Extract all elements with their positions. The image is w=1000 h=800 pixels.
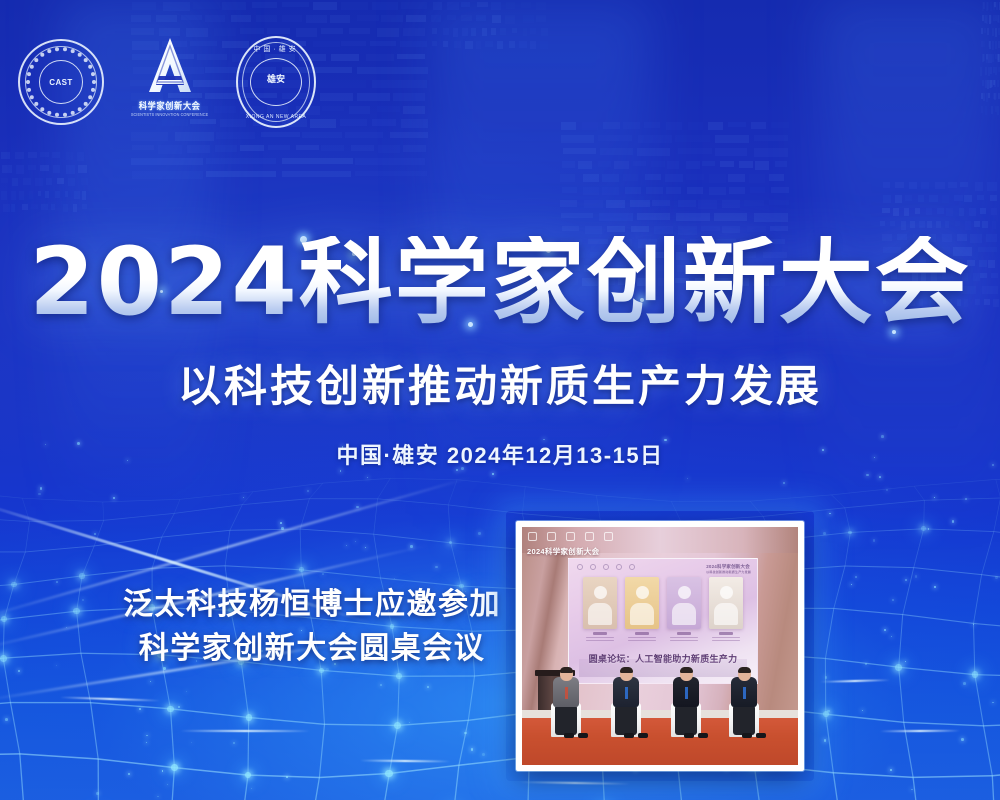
skyline-bar xyxy=(45,191,49,198)
skyline-bar xyxy=(321,28,343,34)
mesh-node xyxy=(171,764,178,771)
skyline-bar xyxy=(400,41,426,47)
skyline-bar xyxy=(351,145,374,151)
skyline-bar xyxy=(23,178,31,185)
seal-arc-dot xyxy=(34,58,38,62)
skyline-bar xyxy=(665,174,683,182)
seal-arc-dot xyxy=(63,113,67,117)
skyline-bar xyxy=(709,187,726,195)
panelist-shoe xyxy=(684,733,694,738)
skyline-bar xyxy=(320,93,353,101)
screen-icon-1 xyxy=(577,564,583,570)
seal-arc-dot xyxy=(88,65,92,69)
mesh-dust xyxy=(162,770,164,772)
mesh-dust xyxy=(482,753,485,756)
triangle-logo-wordmark: 科学家创新大会 xyxy=(139,99,201,112)
panelist-card-row xyxy=(579,577,747,629)
panelist-card xyxy=(709,577,743,629)
skyline-bar xyxy=(313,2,338,10)
skyline-bar xyxy=(349,28,371,34)
skyline-bar xyxy=(372,80,427,88)
skyline-bar xyxy=(40,165,48,171)
banner-icon-1 xyxy=(528,532,537,541)
mesh-dust xyxy=(965,498,967,500)
panelist-name xyxy=(583,632,617,643)
mesh-dust xyxy=(866,474,869,477)
mesh-node xyxy=(246,714,252,720)
skyline-bar xyxy=(296,145,319,150)
mesh-dust xyxy=(280,522,282,524)
mesh-node xyxy=(11,582,17,588)
event-meta-line: 中国·雄安 2024年12月13-15日 xyxy=(0,438,1000,470)
panelist-hair xyxy=(738,667,751,673)
screen-logo-sub: 以科技创新推动新质生产力发展 xyxy=(706,570,751,574)
panelist-head xyxy=(636,586,649,599)
skyline-bar xyxy=(754,213,788,222)
skyline-bar xyxy=(390,132,428,138)
mesh-dust xyxy=(18,670,20,672)
panelist-name xyxy=(625,632,659,643)
skyline-bar xyxy=(678,148,712,154)
skyline-bar xyxy=(256,15,277,22)
panelist-card xyxy=(625,577,659,629)
skyline-bar xyxy=(222,2,246,10)
skyline-bar xyxy=(366,54,394,61)
panelist-body xyxy=(672,603,696,625)
skyline-bar xyxy=(377,106,400,112)
mesh-dust xyxy=(146,735,147,736)
skyline-bar xyxy=(720,161,734,167)
panelist-name-row xyxy=(579,632,747,643)
seal-arc-dot xyxy=(88,95,92,99)
oval-bottom-text: XIONG AN NEW AREA xyxy=(236,114,316,120)
banner-icon-5 xyxy=(604,532,613,541)
panelist-legs xyxy=(555,705,577,735)
panelist-head xyxy=(720,586,733,599)
skyline-bar xyxy=(372,119,396,126)
skyline-bar xyxy=(313,41,340,47)
panelist-hair xyxy=(680,667,693,673)
skyline-bar xyxy=(401,2,426,9)
skyline-bar xyxy=(19,191,24,200)
skyline-bar xyxy=(41,204,47,210)
skyline-bar xyxy=(1,178,8,183)
skyline-bar xyxy=(11,204,16,212)
caption-block: 泛太科技杨恒博士应邀参加 科学家创新大会圆桌会议 xyxy=(112,583,512,670)
skyline-bar xyxy=(687,187,703,194)
mesh-node xyxy=(0,655,7,662)
triangle-logo-subtext: SCIENTISTS INNOVATION CONFERENCE xyxy=(131,112,208,117)
panelist-body xyxy=(630,603,654,625)
seal-arc-dot xyxy=(27,88,31,92)
skyline-bar xyxy=(403,145,426,152)
seal-arc-dot xyxy=(47,49,51,53)
mesh-dust xyxy=(934,586,935,587)
skyline-bar xyxy=(715,148,748,156)
skyline-bar xyxy=(403,106,425,114)
skyline-bar xyxy=(282,158,353,164)
skyline-bar xyxy=(31,204,38,209)
roundtable-panel-photo: 2024科学家创新大会 2024科学家创新大会 以科技创新推动新质生产力发展 xyxy=(516,521,804,771)
skyline-bar xyxy=(355,171,427,176)
skyline-bar xyxy=(744,200,764,206)
screen-footer-band xyxy=(579,659,747,677)
mesh-dust xyxy=(879,476,881,478)
skyline-bar xyxy=(302,132,342,138)
skyline-bar xyxy=(357,15,378,21)
projection-screen: 2024科学家创新大会 以科技创新推动新质生产力发展 xyxy=(568,558,758,684)
skyline-bar xyxy=(769,200,789,205)
screen-icon-5 xyxy=(629,564,635,570)
mesh-dust xyxy=(478,532,480,534)
skyline-bar xyxy=(714,213,747,221)
skyline-bar xyxy=(675,135,710,142)
skyline-bar xyxy=(16,165,24,174)
skyline-bar xyxy=(377,28,400,37)
panelist-badge xyxy=(625,687,628,699)
skyline-bar xyxy=(775,161,787,167)
skyline-bar xyxy=(676,213,710,221)
cast-seal-logo: CAST xyxy=(18,39,104,125)
panelist-shoe xyxy=(564,733,574,738)
cast-monogram: CAST xyxy=(49,78,72,87)
skyline-bar xyxy=(282,15,302,22)
seal-arc-dot xyxy=(91,72,95,76)
seal-arc-dot xyxy=(91,88,95,92)
mesh-dust xyxy=(823,532,826,535)
skyline-bar xyxy=(311,80,365,88)
skyline-bar xyxy=(3,204,10,212)
skyline-bar xyxy=(357,67,429,74)
panelist-shoe xyxy=(742,733,752,738)
panelist-shoe xyxy=(624,733,634,738)
skyline-bar xyxy=(240,28,264,34)
skyline-bar xyxy=(381,15,403,22)
seal-center-emblem: CAST xyxy=(39,60,83,104)
skyline-bar xyxy=(252,2,278,8)
skyline-bar xyxy=(749,174,765,183)
seal-arc-dot xyxy=(92,80,96,84)
seal-arc-dot xyxy=(71,111,75,115)
mesh-dust xyxy=(186,691,187,692)
skyline-bar xyxy=(715,135,749,143)
panelist-hair xyxy=(560,667,573,673)
mesh-node xyxy=(972,671,978,677)
skyline-bar xyxy=(754,148,788,157)
seal-arc-dot xyxy=(47,111,51,115)
seal-arc-dot xyxy=(30,95,34,99)
skyline-bar xyxy=(397,54,426,59)
seal-arc-dot xyxy=(27,72,31,76)
skyline-bar xyxy=(355,158,425,165)
skyline-bar xyxy=(349,106,370,114)
mesh-dust xyxy=(851,584,852,585)
page-title: 2024科学家创新大会 xyxy=(0,236,1000,330)
mesh-dust xyxy=(340,470,341,471)
skyline-bar xyxy=(321,145,344,151)
skyline-bar xyxy=(372,2,398,10)
mesh-dust xyxy=(961,738,964,741)
skyline-bar xyxy=(29,191,33,199)
seal-arc-dot xyxy=(30,65,34,69)
panelist-head xyxy=(594,586,607,599)
mesh-node xyxy=(79,573,84,578)
seal-arc-dot xyxy=(78,53,82,57)
skyline-bar xyxy=(206,158,277,164)
conference-poster: CAST 科学家创新大会 SCI xyxy=(0,0,1000,800)
seal-arc-dot xyxy=(55,113,59,117)
panelist-body xyxy=(588,603,612,625)
skyline-bar xyxy=(15,152,24,159)
title-block: 2024科学家创新大会 以科技创新推动新质生产力发展 中国·雄安 2024年12… xyxy=(0,236,1000,470)
skyline-bar xyxy=(215,145,237,152)
triangle-a-icon xyxy=(139,36,201,96)
mesh-dust xyxy=(94,533,96,535)
mesh-dust xyxy=(150,681,151,682)
skyline-bar xyxy=(403,28,426,36)
stage-banner-icon-row xyxy=(528,532,613,541)
skyline-bar xyxy=(1,191,6,200)
mesh-dust xyxy=(873,539,875,541)
seal-arc-dot xyxy=(55,47,59,51)
panelist-legs xyxy=(615,705,637,735)
skyline-bar xyxy=(216,132,255,139)
mesh-dust xyxy=(5,718,8,721)
banner-icon-4 xyxy=(585,532,594,541)
seal-arc-dot xyxy=(63,47,67,51)
skyline-bar xyxy=(666,187,682,194)
skyline-bar xyxy=(11,191,16,200)
skyline-bar xyxy=(341,2,368,10)
light-streak xyxy=(180,730,310,732)
mesh-dust xyxy=(973,624,974,625)
skyline-bar xyxy=(771,187,788,193)
skyline-bar xyxy=(393,93,425,101)
skyline-bar xyxy=(28,152,37,158)
skyline-bar xyxy=(52,152,60,158)
mesh-node xyxy=(895,664,902,671)
skyline-bar xyxy=(322,106,344,111)
seal-arc-dot xyxy=(40,107,44,111)
mesh-dust xyxy=(928,528,929,529)
skyline-bar xyxy=(686,174,704,180)
skyline-bar xyxy=(686,161,699,169)
skyline-bar xyxy=(754,135,788,141)
xiongan-seal-logo: 中国·雄安 雄安 XIONG AN NEW AREA xyxy=(236,36,316,128)
panelist-shoe xyxy=(756,733,766,738)
skyline-bar xyxy=(728,122,746,127)
mesh-dust xyxy=(824,739,827,742)
panelist-head xyxy=(678,586,691,599)
skyline-bar xyxy=(739,161,753,168)
mesh-dust xyxy=(963,682,966,685)
panelist-body xyxy=(714,603,738,625)
skyline-bar xyxy=(268,145,290,150)
seal-arc-dot xyxy=(78,107,82,111)
panelist-legs xyxy=(733,705,755,735)
panelist-shoe xyxy=(578,733,588,738)
skyline-bar xyxy=(771,122,789,128)
panelist-badge xyxy=(685,687,688,699)
skyline-bar xyxy=(750,187,765,193)
screen-logo-main: 2024科学家创新大会 xyxy=(706,564,750,569)
photo-inner: 2024科学家创新大会 2024科学家创新大会 以科技创新推动新质生产力发展 xyxy=(522,527,798,765)
banner-icon-2 xyxy=(547,532,556,541)
mesh-dust xyxy=(892,599,894,601)
skyline-bar xyxy=(341,41,366,46)
skyline-bar xyxy=(666,122,683,130)
skyline-bar xyxy=(261,132,300,137)
skyline-bar xyxy=(306,15,327,23)
panelist-shoe xyxy=(638,733,648,738)
skyline-bar xyxy=(331,54,359,61)
skyline-bar xyxy=(678,200,697,207)
skyline-bar xyxy=(22,204,28,210)
seal-arc-dot xyxy=(40,53,44,57)
mesh-dust xyxy=(865,663,867,665)
seal-arc-dot xyxy=(34,102,38,106)
mesh-node xyxy=(823,711,829,717)
oval-top-text: 中国·雄安 xyxy=(236,44,316,54)
skyline-bar xyxy=(729,187,744,194)
skyline-bar xyxy=(40,152,49,157)
panelist-badge xyxy=(743,687,746,699)
skyline-bar xyxy=(751,122,767,129)
skyline-bar xyxy=(728,174,744,182)
skyline-bar xyxy=(38,191,41,196)
seal-arc-dot xyxy=(84,58,88,62)
page-subtitle: 以科技创新推动新质生产力发展 xyxy=(0,352,1000,414)
skyline-bar xyxy=(769,174,784,181)
skyline-bar xyxy=(46,178,52,185)
skyline-bar xyxy=(231,15,252,22)
seal-arc-dot xyxy=(26,80,30,84)
seal-arc-dot xyxy=(84,102,88,106)
skyline-bar xyxy=(370,41,396,46)
skyline-bar xyxy=(2,165,11,173)
skyline-bar xyxy=(340,119,366,126)
skyline-bar xyxy=(406,15,426,22)
panelist-name xyxy=(709,632,743,643)
skyline-bar xyxy=(652,200,670,206)
mesh-dust xyxy=(82,599,84,601)
panelist-shoe xyxy=(698,733,708,738)
skyline-bar xyxy=(755,161,769,170)
banner-icon-3 xyxy=(566,532,575,541)
skyline-bar xyxy=(702,161,716,166)
screen-icon-2 xyxy=(590,564,596,570)
mesh-dust xyxy=(56,581,58,583)
mesh-dust xyxy=(855,576,856,577)
panelist-hair xyxy=(620,667,633,673)
screen-icon-row xyxy=(577,564,635,570)
screen-icon-4 xyxy=(616,564,622,570)
skyline-bar xyxy=(709,174,726,183)
screen-icon-3 xyxy=(603,564,609,570)
panelist-name xyxy=(667,632,701,643)
skyline-bar xyxy=(708,122,723,130)
skyline-bar xyxy=(378,145,401,153)
skyline-bar xyxy=(651,161,665,167)
skyline-bar xyxy=(28,165,36,170)
stage-banner-text: 2024科学家创新大会 xyxy=(527,546,599,557)
oval-center-text: 雄安 xyxy=(236,72,316,85)
skyline-bar xyxy=(330,15,349,23)
skyline-bar xyxy=(282,171,351,177)
skyline-bar xyxy=(35,178,43,186)
mesh-dust xyxy=(322,573,324,575)
mesh-dust xyxy=(952,520,954,522)
skyline-bar xyxy=(401,119,428,128)
skyline-bar xyxy=(240,145,263,151)
mesh-node xyxy=(299,567,304,572)
skyline-bar xyxy=(698,200,716,209)
panelist-badge xyxy=(565,687,568,699)
skyline-bar xyxy=(345,132,383,138)
mesh-node xyxy=(167,706,173,712)
organizer-logo-row: CAST 科学家创新大会 SCI xyxy=(18,36,316,128)
panelist-card xyxy=(583,577,617,629)
skyline-bar xyxy=(357,93,390,101)
skyline-bar xyxy=(206,171,276,177)
mesh-dust xyxy=(995,576,997,578)
seal-arc-dot xyxy=(71,49,75,53)
skyline-bar xyxy=(1,152,9,159)
mesh-dust xyxy=(905,579,907,581)
mesh-dust xyxy=(934,497,935,498)
skyline-bar xyxy=(688,122,703,130)
skyline-bar xyxy=(267,28,290,34)
skyline-bar xyxy=(12,178,17,186)
skyline-bar xyxy=(667,161,680,169)
panelist-card xyxy=(667,577,701,629)
skyline-bar xyxy=(282,2,309,7)
conference-triangle-logo: 科学家创新大会 SCIENTISTS INNOVATION CONFERENCE xyxy=(122,36,218,128)
mesh-dust xyxy=(464,732,466,734)
skyline-bar xyxy=(51,204,56,210)
panelist-legs xyxy=(675,705,697,735)
skyline-bar xyxy=(722,200,740,208)
screen-logo: 2024科学家创新大会 以科技创新推动新质生产力发展 xyxy=(706,564,751,574)
